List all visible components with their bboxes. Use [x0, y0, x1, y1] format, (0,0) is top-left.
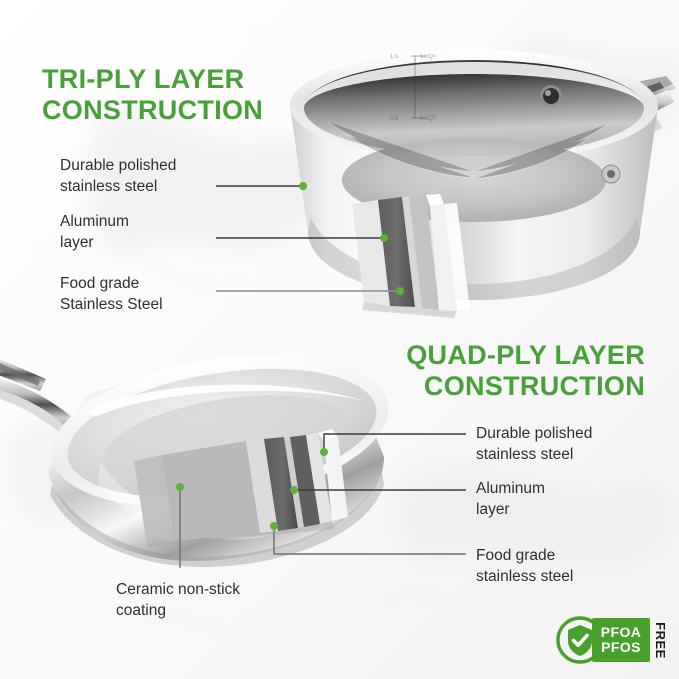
- saute-pan-illustration: [0, 345, 388, 595]
- handle-joint: [602, 165, 620, 183]
- svg-text:0.5: 0.5: [390, 116, 399, 122]
- callout-tri-durable-polished: Durable polished stainless steel: [60, 155, 230, 198]
- callout-tri-food-grade: Food grade Stainless Steel: [60, 273, 240, 316]
- capacity-labels: 1.01.0QT 0.50.5QT: [390, 54, 437, 122]
- callout-quad-aluminum-layer: Aluminum layer: [476, 478, 656, 521]
- badge-line-pfoa: PFOA: [601, 625, 642, 640]
- pfoa-pfos-free-badge: PFOA PFOS FREE: [556, 611, 674, 669]
- svg-text:1.0QT: 1.0QT: [420, 54, 437, 60]
- svg-text:1.0: 1.0: [390, 54, 399, 60]
- page-title-tri-ply: TRI-PLY LAYER CONSTRUCTION: [42, 64, 263, 127]
- saucepan-handle: [554, 76, 676, 158]
- infographic-page: 1.01.0QT 0.50.5QT TRI-PLY LAYER CONSTRUC…: [0, 0, 679, 679]
- badge-free-wrap: FREE: [649, 618, 671, 662]
- callout-dot: [396, 287, 404, 295]
- callout-dot: [290, 486, 298, 494]
- saute-pan-body: [48, 373, 384, 561]
- ceramic-interior: [59, 349, 386, 516]
- callout-quad-food-grade: Food grade stainless steel: [476, 545, 666, 588]
- saucepan-rim: [290, 50, 658, 162]
- capacity-markings: [411, 56, 426, 118]
- triply-cutaway: [352, 194, 470, 318]
- saucepan-rivet: [540, 85, 562, 107]
- aluminum-core-layer: [378, 197, 415, 307]
- callout-tri-aluminum-layer: Aluminum layer: [60, 211, 230, 254]
- quadply-cutaway: [134, 429, 348, 547]
- callout-dot: [176, 483, 184, 491]
- aluminum-core-layer: [264, 437, 298, 531]
- badge-line-pfos: PFOS: [601, 640, 641, 655]
- badge-text-block: PFOA PFOS: [592, 618, 650, 662]
- callout-dot: [299, 182, 307, 190]
- callout-quad-durable-polished: Durable polished stainless steel: [476, 423, 656, 466]
- ceramic-coating-face: [162, 441, 260, 541]
- saucepan-interior: [304, 60, 644, 156]
- svg-text:0.5QT: 0.5QT: [420, 116, 437, 122]
- saute-pan-rim: [41, 345, 388, 529]
- handle-rivet: [68, 433, 84, 449]
- saute-pan-handle: [0, 355, 104, 467]
- saucepan-body: [290, 52, 658, 300]
- page-title-quad-ply: QUAD-PLY LAYER CONSTRUCTION: [406, 340, 645, 403]
- callout-quad-ceramic-coating: Ceramic non-stick coating: [116, 579, 326, 622]
- callout-dot: [320, 448, 328, 456]
- callout-dot: [380, 234, 388, 242]
- badge-free-text: FREE: [653, 622, 668, 659]
- saucepan-illustration: 1.01.0QT 0.50.5QT: [268, 18, 679, 333]
- callout-dot: [270, 522, 278, 530]
